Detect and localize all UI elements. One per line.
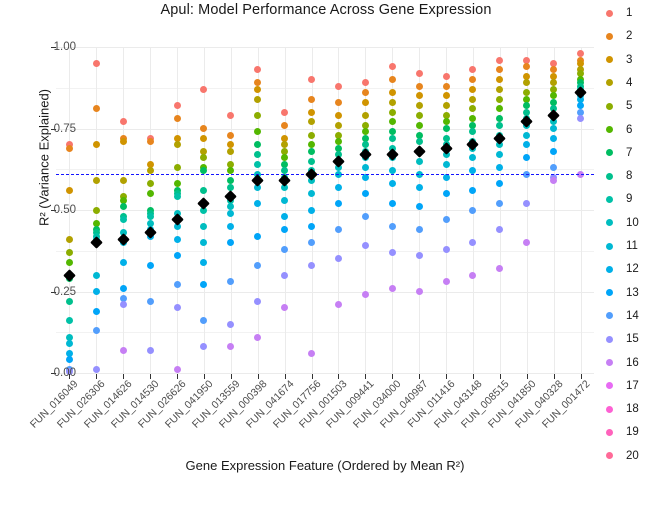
data-point [227, 210, 234, 217]
data-point [147, 138, 154, 145]
data-point [443, 83, 450, 90]
legend-label: 6 [626, 124, 632, 136]
data-point [147, 213, 154, 220]
data-point [362, 89, 369, 96]
legend-label: 10 [626, 217, 639, 229]
legend-item[interactable]: 10 [600, 212, 639, 234]
data-point [200, 187, 207, 194]
data-point [66, 356, 73, 363]
data-point [308, 148, 315, 155]
mean-marker [90, 236, 103, 249]
data-point [66, 298, 73, 305]
data-point [93, 105, 100, 112]
data-point [93, 288, 100, 295]
legend-dot-icon [600, 452, 618, 459]
y-tick-label: 0.50 [16, 204, 76, 216]
x-tick-mark [231, 374, 232, 379]
data-point [254, 298, 261, 305]
data-point [389, 63, 396, 70]
data-point [120, 203, 127, 210]
data-point [523, 63, 530, 70]
data-point [254, 233, 261, 240]
data-point [200, 223, 207, 230]
data-point [416, 102, 423, 109]
data-point [174, 366, 181, 373]
data-point [523, 141, 530, 148]
data-point [174, 193, 181, 200]
legend-item[interactable]: 20 [600, 445, 639, 467]
data-point [550, 135, 557, 142]
legend-label: 7 [626, 147, 632, 159]
data-point [93, 272, 100, 279]
data-point [523, 239, 530, 246]
data-point [523, 154, 530, 161]
legend-dot-icon [600, 173, 618, 180]
data-point [308, 207, 315, 214]
mean-marker [63, 269, 76, 282]
legend-dot-icon [600, 429, 618, 436]
data-point [120, 118, 127, 125]
legend-item[interactable]: 7 [600, 142, 632, 164]
data-point [147, 347, 154, 354]
data-point [174, 164, 181, 171]
data-point [496, 76, 503, 83]
legend-dot-icon [600, 243, 618, 250]
legend-item[interactable]: 15 [600, 328, 639, 350]
x-tick-mark [500, 374, 501, 379]
data-point [416, 70, 423, 77]
data-point [93, 207, 100, 214]
data-point [93, 308, 100, 315]
data-point [335, 226, 342, 233]
mean-marker [359, 148, 372, 161]
data-point [335, 138, 342, 145]
data-point [254, 161, 261, 168]
data-point [227, 132, 234, 139]
legend-label: 16 [626, 357, 639, 369]
data-point [416, 112, 423, 119]
data-point [147, 262, 154, 269]
data-point [389, 109, 396, 116]
data-point [496, 66, 503, 73]
data-point [550, 177, 557, 184]
mean-marker [440, 142, 453, 155]
legend-item[interactable]: 12 [600, 258, 639, 280]
data-point [281, 272, 288, 279]
data-point [308, 262, 315, 269]
x-tick-mark [285, 374, 286, 379]
mean-marker [413, 145, 426, 158]
legend-dot-icon [600, 336, 618, 343]
data-point [416, 122, 423, 129]
data-point [416, 252, 423, 259]
data-point [308, 350, 315, 357]
mean-marker [144, 226, 157, 239]
data-point [308, 96, 315, 103]
legend-item[interactable]: 16 [600, 352, 639, 374]
data-point [335, 255, 342, 262]
data-point [66, 317, 73, 324]
data-point [200, 343, 207, 350]
data-point [281, 304, 288, 311]
data-point [389, 89, 396, 96]
data-point [120, 301, 127, 308]
legend-label: 12 [626, 263, 639, 275]
data-point [416, 203, 423, 210]
chart-title: Apul: Model Performance Across Gene Expr… [56, 2, 596, 18]
legend-dot-icon [600, 289, 618, 296]
data-point [577, 115, 584, 122]
data-point [362, 99, 369, 106]
legend-item[interactable]: 3 [600, 49, 632, 71]
data-point [523, 200, 530, 207]
data-point [469, 239, 476, 246]
x-tick-mark [258, 374, 259, 379]
data-point [254, 66, 261, 73]
mean-marker [117, 233, 130, 246]
data-point [66, 340, 73, 347]
data-point [496, 180, 503, 187]
data-point [416, 184, 423, 191]
data-point [254, 200, 261, 207]
x-tick-mark [581, 374, 582, 379]
data-point [308, 190, 315, 197]
x-tick-mark [527, 374, 528, 379]
data-point [389, 249, 396, 256]
legend-item[interactable]: 18 [600, 398, 639, 420]
data-point [362, 79, 369, 86]
gridline-horizontal [56, 373, 594, 374]
legend-item[interactable]: 13 [600, 282, 639, 304]
data-point [200, 259, 207, 266]
data-point [335, 122, 342, 129]
data-point [335, 83, 342, 90]
data-point [362, 242, 369, 249]
data-point [200, 135, 207, 142]
legend-dot-icon [600, 312, 618, 319]
data-point [254, 262, 261, 269]
data-point [281, 246, 288, 253]
data-point [416, 92, 423, 99]
data-point [443, 102, 450, 109]
legend-dot-icon [600, 33, 618, 40]
legend-dot-icon [600, 266, 618, 273]
data-point [147, 190, 154, 197]
legend-label: 5 [626, 100, 632, 112]
legend-item[interactable]: 14 [600, 305, 639, 327]
data-point [200, 154, 207, 161]
data-point [93, 177, 100, 184]
data-point [174, 281, 181, 288]
data-point [308, 109, 315, 116]
y-axis-title: R² (Variance Explained) [37, 48, 52, 268]
gridline-horizontal-minor [56, 169, 594, 170]
legend: 1234567891011121314151617181920 [600, 0, 672, 480]
data-point [416, 138, 423, 145]
data-point [227, 321, 234, 328]
y-tick-label: 1.00 [16, 41, 76, 53]
legend-item[interactable]: 19 [600, 421, 639, 443]
data-point [200, 281, 207, 288]
legend-label: 3 [626, 54, 632, 66]
data-point [443, 92, 450, 99]
mean-marker [171, 213, 184, 226]
data-point [469, 66, 476, 73]
data-point [227, 278, 234, 285]
data-point [416, 158, 423, 165]
x-tick-mark [312, 374, 313, 379]
data-point [254, 334, 261, 341]
data-point [120, 259, 127, 266]
data-point [550, 125, 557, 132]
gridline-horizontal-minor [56, 332, 594, 333]
data-point [147, 180, 154, 187]
data-point [389, 135, 396, 142]
data-point [227, 223, 234, 230]
legend-dot-icon [600, 406, 618, 413]
data-point [389, 99, 396, 106]
data-point [174, 115, 181, 122]
legend-label: 15 [626, 333, 639, 345]
data-point [66, 145, 73, 152]
legend-dot-icon [600, 149, 618, 156]
data-point [66, 187, 73, 194]
data-point [120, 138, 127, 145]
data-point [443, 278, 450, 285]
legend-dot-icon [600, 382, 618, 389]
data-point [416, 226, 423, 233]
data-point [389, 285, 396, 292]
mean-marker [386, 148, 399, 161]
gridline-horizontal [56, 47, 594, 48]
data-point [416, 288, 423, 295]
data-point [523, 132, 530, 139]
data-point [174, 102, 181, 109]
legend-label: 19 [626, 426, 639, 438]
data-point [362, 112, 369, 119]
data-point [254, 151, 261, 158]
data-point [496, 151, 503, 158]
chart-root: Apul: Model Performance Across Gene Expr… [0, 0, 672, 480]
data-point [120, 177, 127, 184]
data-point [469, 187, 476, 194]
data-point [469, 128, 476, 135]
data-point [443, 125, 450, 132]
data-point [227, 112, 234, 119]
gridline-vertical [338, 47, 339, 373]
data-point [496, 86, 503, 93]
data-point [416, 83, 423, 90]
legend-item[interactable]: 1 [600, 2, 632, 24]
data-point [200, 86, 207, 93]
data-point [389, 223, 396, 230]
data-point [120, 285, 127, 292]
data-point [308, 158, 315, 165]
data-point [496, 226, 503, 233]
legend-label: 20 [626, 450, 639, 462]
data-point [200, 239, 207, 246]
legend-dot-icon [600, 126, 618, 133]
legend-label: 17 [626, 380, 639, 392]
data-point [174, 141, 181, 148]
data-point [362, 190, 369, 197]
data-point [281, 122, 288, 129]
data-point [66, 259, 73, 266]
gridline-horizontal [56, 129, 594, 130]
data-point [174, 304, 181, 311]
data-point [147, 298, 154, 305]
data-point [389, 76, 396, 83]
legend-label: 2 [626, 30, 632, 42]
legend-label: 13 [626, 287, 639, 299]
data-point [254, 112, 261, 119]
data-point [227, 239, 234, 246]
data-point [443, 190, 450, 197]
y-tick-label: 0.75 [16, 123, 76, 135]
data-point [469, 86, 476, 93]
legend-item[interactable]: 8 [600, 165, 632, 187]
legend-label: 8 [626, 170, 632, 182]
data-point [496, 265, 503, 272]
x-tick-mark [554, 374, 555, 379]
data-point [577, 50, 584, 57]
legend-label: 18 [626, 403, 639, 415]
data-point [281, 109, 288, 116]
data-point [120, 216, 127, 223]
data-point [308, 118, 315, 125]
data-point [174, 252, 181, 259]
legend-dot-icon [600, 10, 618, 17]
mean-marker [251, 174, 264, 187]
data-point [389, 118, 396, 125]
gridline-horizontal-minor [56, 88, 594, 89]
data-point [281, 197, 288, 204]
data-point [93, 60, 100, 67]
mean-marker [332, 155, 345, 168]
reference-line [56, 174, 594, 175]
x-axis-title: Gene Expression Feature (Ordered by Mean… [56, 458, 594, 473]
data-point [200, 317, 207, 324]
data-point [66, 236, 73, 243]
data-point [308, 76, 315, 83]
data-point [335, 112, 342, 119]
gridline-vertical [285, 47, 286, 373]
legend-dot-icon [600, 103, 618, 110]
legend-item[interactable]: 17 [600, 375, 639, 397]
data-point [443, 73, 450, 80]
gridline-horizontal [56, 292, 594, 293]
data-point [389, 200, 396, 207]
data-point [469, 105, 476, 112]
data-point [254, 96, 261, 103]
data-point [335, 200, 342, 207]
data-point [443, 161, 450, 168]
legend-item[interactable]: 4 [600, 72, 632, 94]
legend-dot-icon [600, 196, 618, 203]
data-point [254, 86, 261, 93]
data-point [550, 148, 557, 155]
legend-dot-icon [600, 79, 618, 86]
data-point [496, 96, 503, 103]
data-point [120, 347, 127, 354]
data-point [496, 105, 503, 112]
legend-item[interactable]: 6 [600, 119, 632, 141]
legend-item[interactable]: 9 [600, 188, 632, 210]
legend-dot-icon [600, 359, 618, 366]
legend-label: 9 [626, 193, 632, 205]
data-point [66, 249, 73, 256]
data-point [227, 343, 234, 350]
data-point [523, 79, 530, 86]
legend-label: 14 [626, 310, 639, 322]
data-point [308, 239, 315, 246]
legend-dot-icon [600, 56, 618, 63]
data-point [335, 184, 342, 191]
data-point [469, 207, 476, 214]
data-point [469, 76, 476, 83]
data-point [362, 164, 369, 171]
y-tick-label: 0.00 [16, 367, 76, 379]
data-point [469, 96, 476, 103]
gridline-horizontal [56, 210, 594, 211]
data-point [389, 180, 396, 187]
y-tick-label: 0.25 [16, 286, 76, 298]
data-point [335, 99, 342, 106]
legend-label: 4 [626, 77, 632, 89]
data-point [93, 141, 100, 148]
data-point [227, 148, 234, 155]
data-point [308, 132, 315, 139]
plot-panel [56, 47, 594, 373]
data-point [200, 125, 207, 132]
data-point [443, 216, 450, 223]
legend-item[interactable]: 2 [600, 25, 632, 47]
data-point [362, 291, 369, 298]
data-point [469, 154, 476, 161]
legend-dot-icon [600, 219, 618, 226]
data-point [281, 213, 288, 220]
data-point [469, 272, 476, 279]
data-point [443, 246, 450, 253]
data-point [335, 301, 342, 308]
legend-label: 1 [626, 7, 632, 19]
data-point [254, 141, 261, 148]
data-point [93, 327, 100, 334]
data-point [308, 223, 315, 230]
data-point [496, 200, 503, 207]
legend-label: 11 [626, 240, 638, 252]
data-point [254, 128, 261, 135]
data-point [281, 226, 288, 233]
legend-item[interactable]: 5 [600, 95, 632, 117]
legend-item[interactable]: 11 [600, 235, 638, 257]
data-point [174, 236, 181, 243]
data-point [362, 213, 369, 220]
data-point [496, 57, 503, 64]
gridline-horizontal-minor [56, 251, 594, 252]
